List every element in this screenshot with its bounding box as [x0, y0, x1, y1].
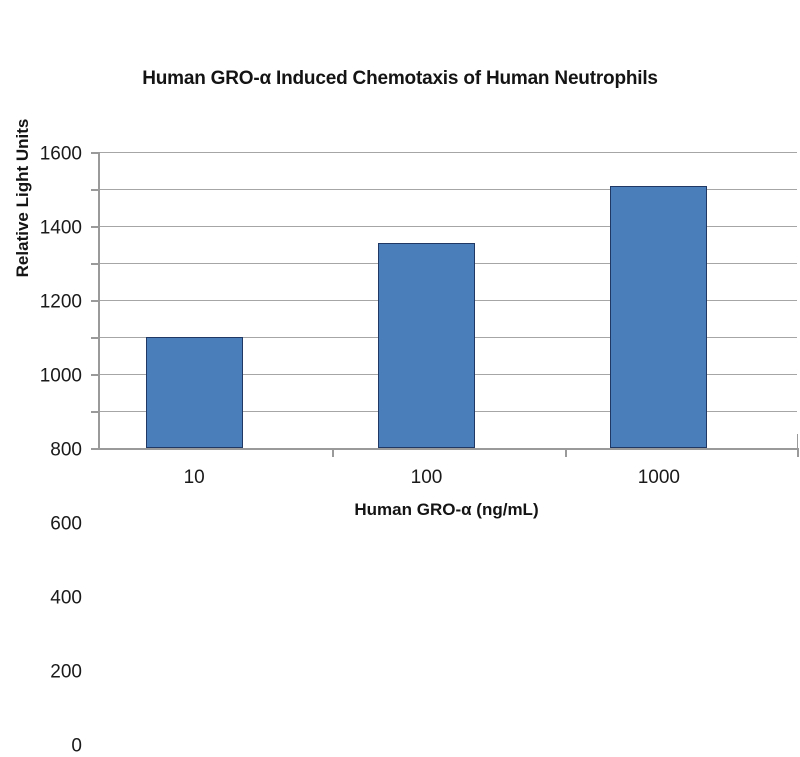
y-axis-tick: 600	[91, 337, 100, 339]
y-axis-tick: 200	[91, 411, 100, 413]
y-axis-tick: 400	[91, 374, 100, 376]
y-axis-tick: 1400	[91, 189, 100, 191]
y-axis-tick-label: 1200	[40, 293, 82, 312]
bar-1000	[610, 186, 707, 448]
y-axis-tick-label: 1000	[40, 367, 82, 386]
y-axis-tick: 1000	[91, 263, 100, 265]
x-axis-tick-label: 10	[184, 468, 205, 487]
y-axis-tick-label: 200	[50, 663, 82, 682]
y-axis-title: Relative Light Units	[13, 83, 33, 313]
x-axis-title: Human GRO-α (ng/mL)	[98, 500, 795, 520]
chart-figure: Human GRO-α Induced Chemotaxis of Human …	[0, 0, 800, 600]
gridline	[100, 152, 797, 153]
y-axis-tick: 0	[91, 448, 100, 450]
x-axis-tick	[565, 448, 567, 457]
y-axis-tick-label: 1400	[40, 219, 82, 238]
y-axis-tick-label: 800	[50, 441, 82, 460]
chart-title: Human GRO-α Induced Chemotaxis of Human …	[0, 68, 800, 90]
y-axis-tick-label: 0	[71, 737, 82, 756]
x-axis-tick	[332, 448, 334, 457]
bar-10	[146, 337, 243, 448]
plot-area: 02004006008001000120014001600 101001000	[98, 152, 797, 450]
x-axis-tick	[797, 448, 799, 457]
y-axis-tick-label: 600	[50, 515, 82, 534]
x-axis-tick-label: 1000	[638, 468, 680, 487]
plot-frame-right-stub	[797, 434, 798, 448]
y-axis-tick: 1600	[91, 152, 100, 154]
y-axis-tick: 1200	[91, 226, 100, 228]
x-axis-tick-label: 100	[411, 468, 443, 487]
y-axis-tick: 800	[91, 300, 100, 302]
y-axis-tick-label: 400	[50, 589, 82, 608]
y-axis-tick-label: 1600	[40, 145, 82, 164]
bar-100	[378, 243, 475, 448]
